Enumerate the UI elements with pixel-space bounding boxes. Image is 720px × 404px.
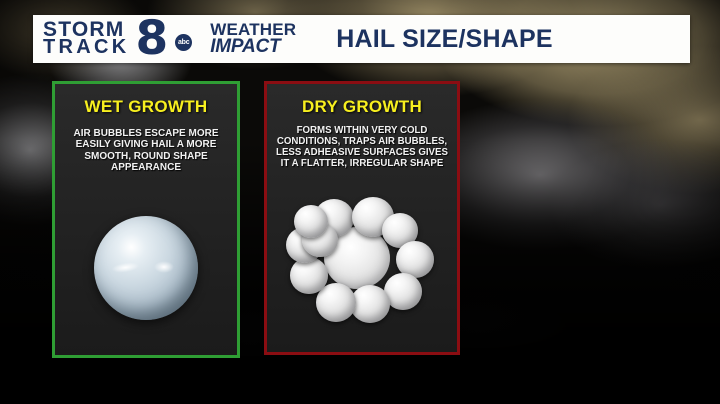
cluster-lobe: [350, 285, 390, 323]
logo-line-impact: IMPACT: [210, 38, 296, 55]
abc-network-label: abc: [178, 39, 189, 46]
panel-wet-growth-inner: WET GROWTH AIR BUBBLES ESCAPE MORE EASIL…: [55, 84, 237, 355]
irregular-hailstone-cluster-icon: [286, 197, 438, 325]
letterbox-bar: [0, 362, 720, 404]
cluster-lobe: [290, 257, 328, 294]
channel-number: 8: [136, 20, 169, 59]
page-title: HAIL SIZE/SHAPE: [336, 25, 552, 54]
panel-dry-growth-body: FORMS WITHIN VERY COLD CONDITIONS, TRAPS…: [267, 125, 457, 169]
station-logo: STORM TRACK 8 abc WEATHER IMPACT: [33, 15, 304, 63]
panel-dry-growth: DRY GROWTH FORMS WITHIN VERY COLD CONDIT…: [264, 81, 460, 355]
weather-impact-wordmark: WEATHER IMPACT: [210, 22, 296, 55]
panel-dry-growth-title: DRY GROWTH: [302, 97, 422, 117]
weather-graphic-screen: STORM TRACK 8 abc WEATHER IMPACT HAIL SI…: [0, 0, 720, 404]
panel-wet-growth-title: WET GROWTH: [85, 97, 208, 117]
panel-wet-growth: WET GROWTH AIR BUBBLES ESCAPE MORE EASIL…: [52, 81, 240, 358]
header-bar: STORM TRACK 8 abc WEATHER IMPACT HAIL SI…: [33, 15, 690, 63]
cluster-lobe: [294, 205, 328, 238]
storm-track-wordmark: STORM TRACK: [43, 21, 130, 57]
panel-wet-growth-body: AIR BUBBLES ESCAPE MORE EASILY GIVING HA…: [55, 128, 237, 174]
panel-wet-growth-illustration: [55, 174, 237, 355]
logo-line-track: TRACK: [43, 39, 130, 57]
smooth-hailstone-icon: [94, 216, 198, 320]
abc-network-icon: abc: [175, 34, 192, 51]
panel-dry-growth-inner: DRY GROWTH FORMS WITHIN VERY COLD CONDIT…: [267, 84, 457, 352]
panel-dry-growth-illustration: [267, 169, 457, 352]
